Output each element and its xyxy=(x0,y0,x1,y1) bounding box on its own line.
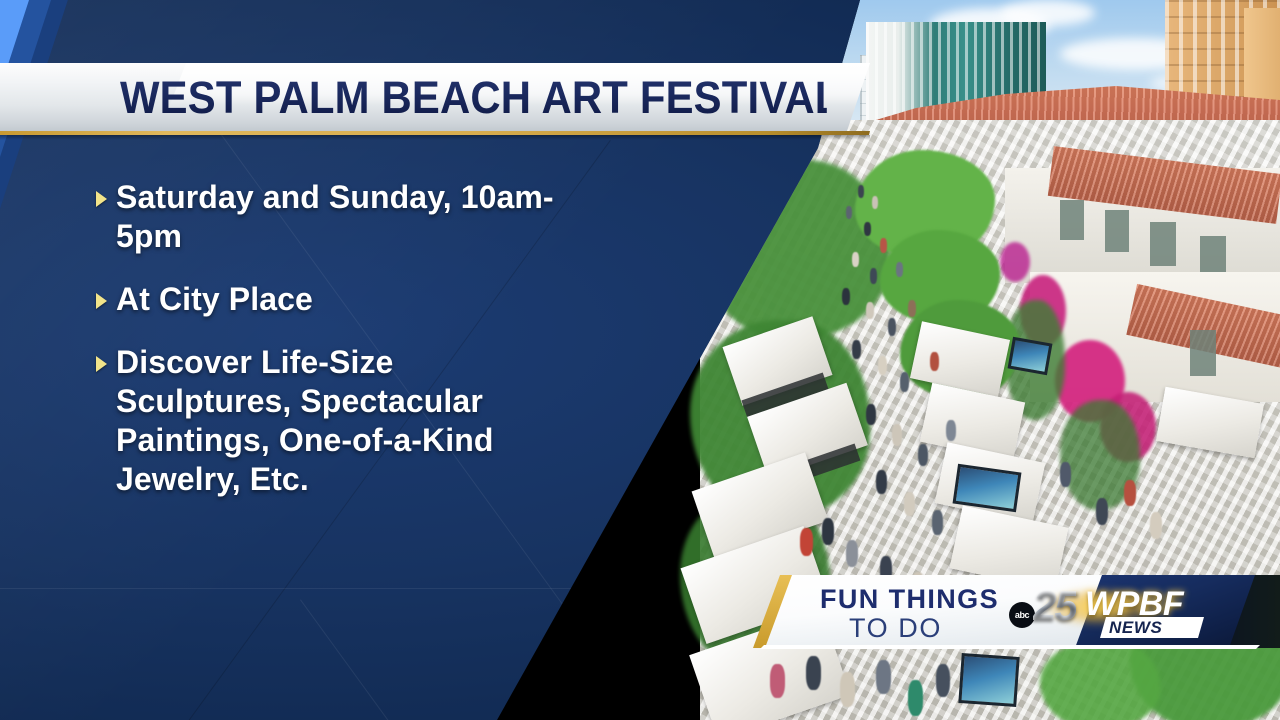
shutter xyxy=(1060,200,1084,240)
pedestrian xyxy=(870,268,877,284)
pedestrian xyxy=(918,444,928,466)
pedestrian xyxy=(872,196,878,209)
pedestrian xyxy=(876,660,891,694)
list-item-label: Saturday and Sunday, 10am-5pm xyxy=(116,178,566,256)
pedestrian xyxy=(846,540,858,567)
pedestrian xyxy=(892,424,902,446)
pedestrian xyxy=(864,222,871,236)
abc-network-logo-icon: abc xyxy=(1009,602,1035,628)
pedestrian xyxy=(936,664,950,697)
pedestrian xyxy=(866,404,876,425)
pedestrian xyxy=(842,288,850,305)
segment-title-line2: TO DO xyxy=(849,613,942,644)
segment-title-line1: FUN THINGS xyxy=(820,584,999,615)
pedestrian xyxy=(904,492,915,516)
bougainvillea xyxy=(1000,242,1030,282)
page-title: WEST PALM BEACH ART FESTIVAL xyxy=(120,70,827,126)
shutter xyxy=(1150,222,1176,266)
pedestrian xyxy=(932,510,943,535)
station-suffix: NEWS xyxy=(1109,618,1162,637)
triangle-right-icon xyxy=(96,191,107,207)
pedestrian xyxy=(866,302,874,319)
pedestrian xyxy=(1060,462,1071,487)
pedestrian xyxy=(822,518,834,545)
broadcast-graphic: WEST PALM BEACH ART FESTIVAL Saturday an… xyxy=(0,0,1280,720)
pedestrian xyxy=(908,300,916,317)
list-item: Discover Life-Size Sculptures, Spectacul… xyxy=(96,343,566,499)
banner-drop-shadow xyxy=(0,135,870,140)
lower-third-bottom-rule xyxy=(760,645,1260,649)
lower-third-banner: FUN THINGS TO DO abc 25 WPBF NEWS xyxy=(745,575,1280,648)
pedestrian xyxy=(770,664,785,698)
pedestrian xyxy=(852,340,861,359)
pedestrian xyxy=(806,656,821,690)
shutter xyxy=(1190,330,1216,376)
list-item: At City Place xyxy=(96,280,566,319)
list-item: Saturday and Sunday, 10am-5pm xyxy=(96,178,566,256)
pedestrian xyxy=(946,420,956,441)
pedestrian xyxy=(888,318,896,336)
pedestrian xyxy=(908,680,923,716)
palm-fronds xyxy=(1040,640,1160,720)
art-display-panel xyxy=(1008,337,1053,375)
pedestrian xyxy=(858,185,864,198)
channel-number: 25 xyxy=(1033,585,1076,627)
pedestrian xyxy=(852,252,859,267)
station-callsign: WPBF xyxy=(1085,587,1183,621)
pedestrian xyxy=(1150,512,1162,539)
pedestrian xyxy=(1096,498,1108,525)
art-display-panel xyxy=(958,653,1019,707)
pedestrian xyxy=(1124,480,1136,506)
bullet-list: Saturday and Sunday, 10am-5pm At City Pl… xyxy=(96,178,566,523)
abc-logo-label: abc xyxy=(1015,610,1029,620)
pedestrian xyxy=(800,528,813,556)
triangle-right-icon xyxy=(96,356,107,372)
shutter xyxy=(1105,210,1129,252)
pedestrian xyxy=(930,352,939,371)
pedestrian xyxy=(896,262,903,277)
pedestrian xyxy=(878,356,887,375)
pedestrian xyxy=(900,372,909,392)
pedestrian xyxy=(846,206,852,219)
pedestrian xyxy=(876,470,887,494)
triangle-right-icon xyxy=(96,293,107,309)
list-item-label: At City Place xyxy=(116,280,313,319)
pedestrian xyxy=(880,238,887,253)
list-item-label: Discover Life-Size Sculptures, Spectacul… xyxy=(116,343,566,499)
pedestrian xyxy=(840,672,855,707)
